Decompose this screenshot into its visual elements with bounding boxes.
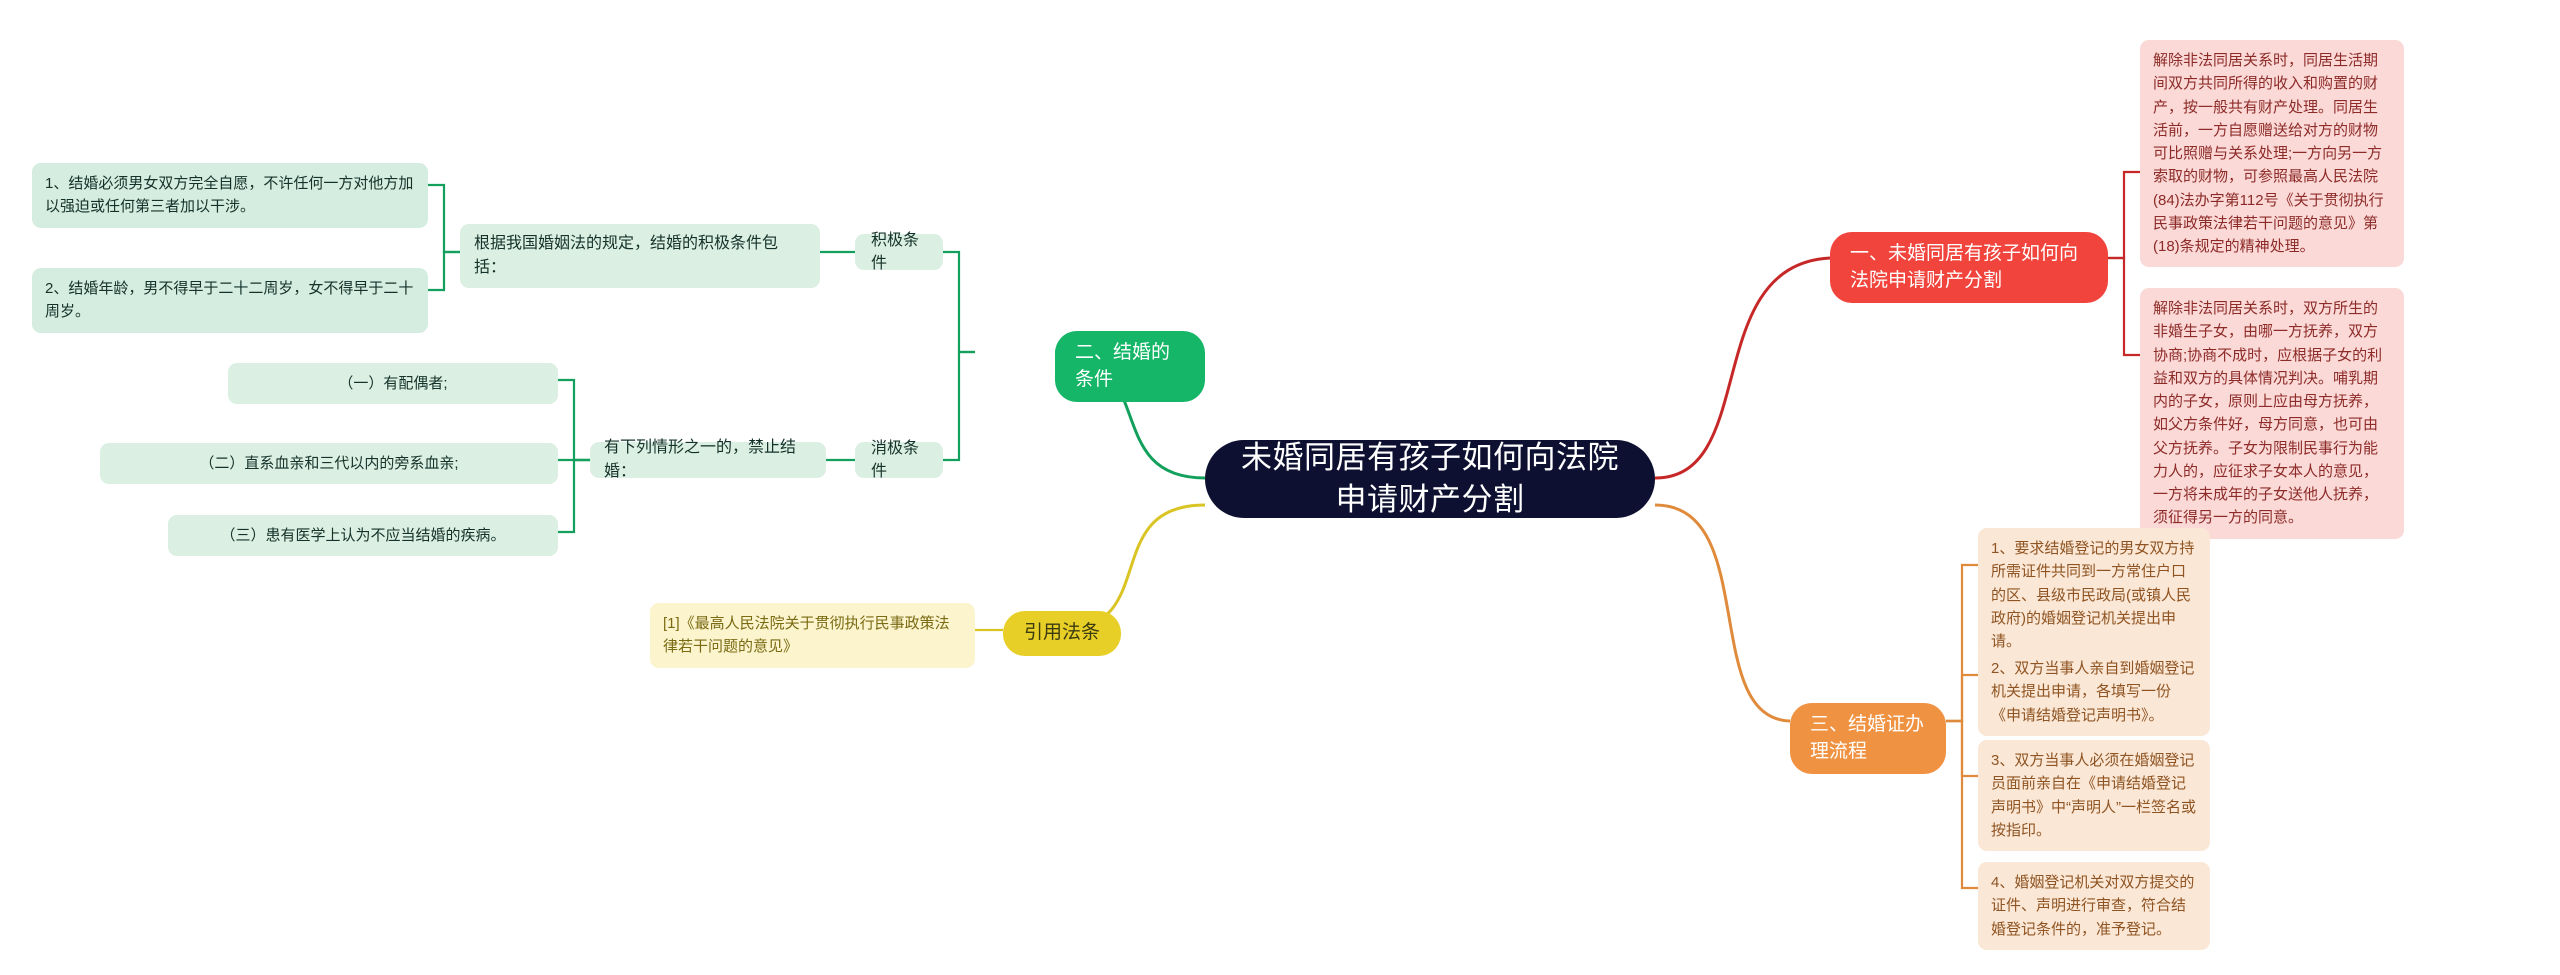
leaf-green-negative-1[interactable]: （一）有配偶者; [228,363,558,404]
leaf-orange-1-text: 1、要求结婚登记的男女双方持所需证件共同到一方常住户口的区、县级市民政局(或镇人… [1991,537,2197,653]
root-node-label: 未婚同居有孩子如何向法院申请财产分割 [1239,437,1621,521]
leaf-green-negative-2-text: （二）直系血亲和三代以内的旁系血亲; [199,452,458,475]
leaf-orange-3[interactable]: 3、双方当事人必须在婚姻登记员面前亲自在《申请结婚登记声明书》中“声明人”一栏签… [1978,740,2210,851]
leaf-green-positive-2-text: 2、结婚年龄，男不得早于二十二周岁，女不得早于二十周岁。 [45,277,415,324]
leaf-orange-2[interactable]: 2、双方当事人亲自到婚姻登记机关提出申请，各填写一份《申请结婚登记声明书》。 [1978,648,2210,736]
subnode-positive-conditions-label: 积极条件 [871,229,927,275]
leaf-green-positive-2[interactable]: 2、结婚年龄，男不得早于二十二周岁，女不得早于二十周岁。 [32,268,428,333]
subnode-negative-conditions[interactable]: 消极条件 [855,442,943,478]
subnode-negative-conditions-label: 消极条件 [871,437,927,483]
leaf-red-1[interactable]: 解除非法同居关系时，同居生活期间双方共同所得的收入和购置的财产，按一般共有财产处… [2140,40,2404,267]
branch-orange-label: 三、结婚证办理流程 [1810,712,1926,765]
leaf-orange-1[interactable]: 1、要求结婚登记的男女双方持所需证件共同到一方常住户口的区、县级市民政局(或镇人… [1978,528,2210,662]
leaf-red-2-text: 解除非法同居关系时，双方所生的非婚生子女，由哪一方抚养，双方协商;协商不成时，应… [2153,297,2391,530]
branch-red-label: 一、未婚同居有孩子如何向法院申请财产分割 [1850,241,2088,294]
subnode-positive-conditions[interactable]: 积极条件 [855,234,943,270]
leaf-red-1-text: 解除非法同居关系时，同居生活期间双方共同所得的收入和购置的财产，按一般共有财产处… [2153,49,2391,258]
leaf-orange-4-text: 4、婚姻登记机关对双方提交的证件、声明进行审查，符合结婚登记条件的，准予登记。 [1991,871,2197,941]
root-node[interactable]: 未婚同居有孩子如何向法院申请财产分割 [1205,440,1655,518]
mindmap-canvas: 未婚同居有孩子如何向法院申请财产分割 一、未婚同居有孩子如何向法院申请财产分割 … [0,0,2560,975]
leaf-green-positive-1[interactable]: 1、结婚必须男女双方完全自愿，不许任何一方对他方加以强迫或任何第三者加以干涉。 [32,163,428,228]
branch-yellow[interactable]: 引用法条 [1003,611,1121,656]
leaf-green-negative-1-text: （一）有配偶者; [338,372,447,395]
branch-orange[interactable]: 三、结婚证办理流程 [1790,703,1946,774]
branch-yellow-label: 引用法条 [1024,620,1100,647]
detail-positive-conditions-text: 根据我国婚姻法的规定，结婚的积极条件包括： [474,232,806,280]
branch-green-label: 二、结婚的条件 [1075,340,1185,393]
detail-negative-conditions-text: 有下列情形之一的，禁止结婚： [604,436,812,484]
leaf-red-2[interactable]: 解除非法同居关系时，双方所生的非婚生子女，由哪一方抚养，双方协商;协商不成时，应… [2140,288,2404,539]
leaf-green-negative-3[interactable]: （三）患有医学上认为不应当结婚的疾病。 [168,515,558,556]
leaf-yellow-1-text: [1]《最高人民法院关于贯彻执行民事政策法律若干问题的意见》 [663,612,962,659]
leaf-yellow-1[interactable]: [1]《最高人民法院关于贯彻执行民事政策法律若干问题的意见》 [650,603,975,668]
detail-negative-conditions[interactable]: 有下列情形之一的，禁止结婚： [590,442,826,478]
leaf-green-negative-3-text: （三）患有医学上认为不应当结婚的疾病。 [220,524,505,547]
branch-red[interactable]: 一、未婚同居有孩子如何向法院申请财产分割 [1830,232,2108,303]
branch-green[interactable]: 二、结婚的条件 [1055,331,1205,402]
leaf-orange-3-text: 3、双方当事人必须在婚姻登记员面前亲自在《申请结婚登记声明书》中“声明人”一栏签… [1991,749,2197,842]
leaf-green-negative-2[interactable]: （二）直系血亲和三代以内的旁系血亲; [100,443,558,484]
leaf-orange-2-text: 2、双方当事人亲自到婚姻登记机关提出申请，各填写一份《申请结婚登记声明书》。 [1991,657,2197,727]
leaf-orange-4[interactable]: 4、婚姻登记机关对双方提交的证件、声明进行审查，符合结婚登记条件的，准予登记。 [1978,862,2210,950]
detail-positive-conditions[interactable]: 根据我国婚姻法的规定，结婚的积极条件包括： [460,224,820,288]
leaf-green-positive-1-text: 1、结婚必须男女双方完全自愿，不许任何一方对他方加以强迫或任何第三者加以干涉。 [45,172,415,219]
